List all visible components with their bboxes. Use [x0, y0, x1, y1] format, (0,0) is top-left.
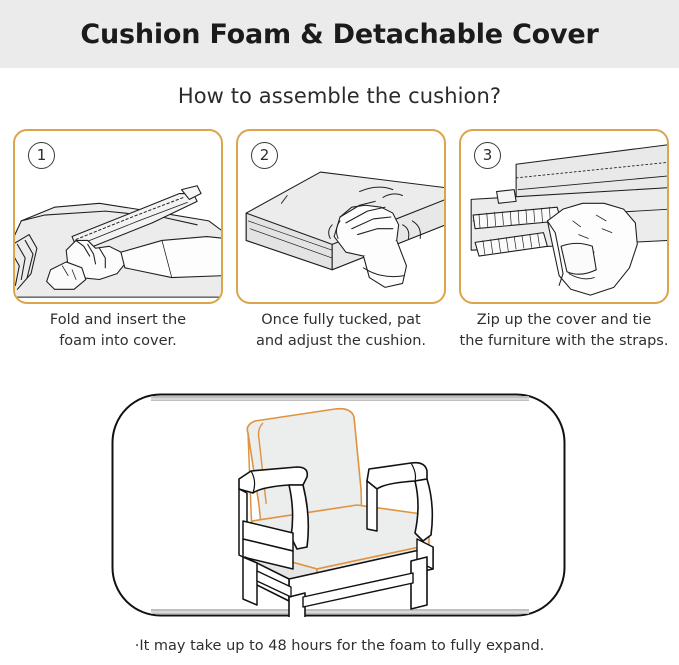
- caption-3-line-2: the furniture with the straps.: [460, 333, 669, 349]
- steps-row: 1: [13, 129, 669, 304]
- captions-row: Fold and insert the foam into cover. Onc…: [13, 310, 669, 352]
- step-number-1: 1: [28, 142, 55, 169]
- leg-rear-left: [243, 557, 257, 605]
- caption-1-line-2: foam into cover.: [59, 333, 177, 349]
- step-caption-3: Zip up the cover and tie the furniture w…: [459, 310, 669, 352]
- armchair-illustration: [111, 393, 566, 617]
- top-gray-bar-highlight: [151, 398, 529, 400]
- caption-2-line-2: and adjust the cushion.: [256, 333, 426, 349]
- caption-1-line-1: Fold and insert the: [50, 312, 186, 328]
- subtitle: How to assemble the cushion?: [0, 84, 679, 108]
- step-number-3: 3: [474, 142, 501, 169]
- step-panel-1: 1: [13, 129, 223, 304]
- right-arm-support: [415, 479, 432, 541]
- caption-3-line-1: Zip up the cover and tie: [477, 312, 652, 328]
- step-caption-1: Fold and insert the foam into cover.: [13, 310, 223, 352]
- right-rear-post: [367, 481, 377, 531]
- step-panel-3: 3: [459, 129, 669, 304]
- page-title: Cushion Foam & Detachable Cover: [80, 19, 598, 50]
- header-band: Cushion Foam & Detachable Cover: [0, 0, 679, 68]
- step-panel-2: 2: [236, 129, 446, 304]
- step-number-2: 2: [251, 142, 278, 169]
- step-caption-2: Once fully tucked, pat and adjust the cu…: [236, 310, 446, 352]
- caption-2-line-1: Once fully tucked, pat: [261, 312, 421, 328]
- bottom-gray-bar-highlight: [151, 611, 529, 613]
- chair-showcase: [111, 393, 566, 617]
- footer-note: ·It may take up to 48 hours for the foam…: [0, 638, 679, 654]
